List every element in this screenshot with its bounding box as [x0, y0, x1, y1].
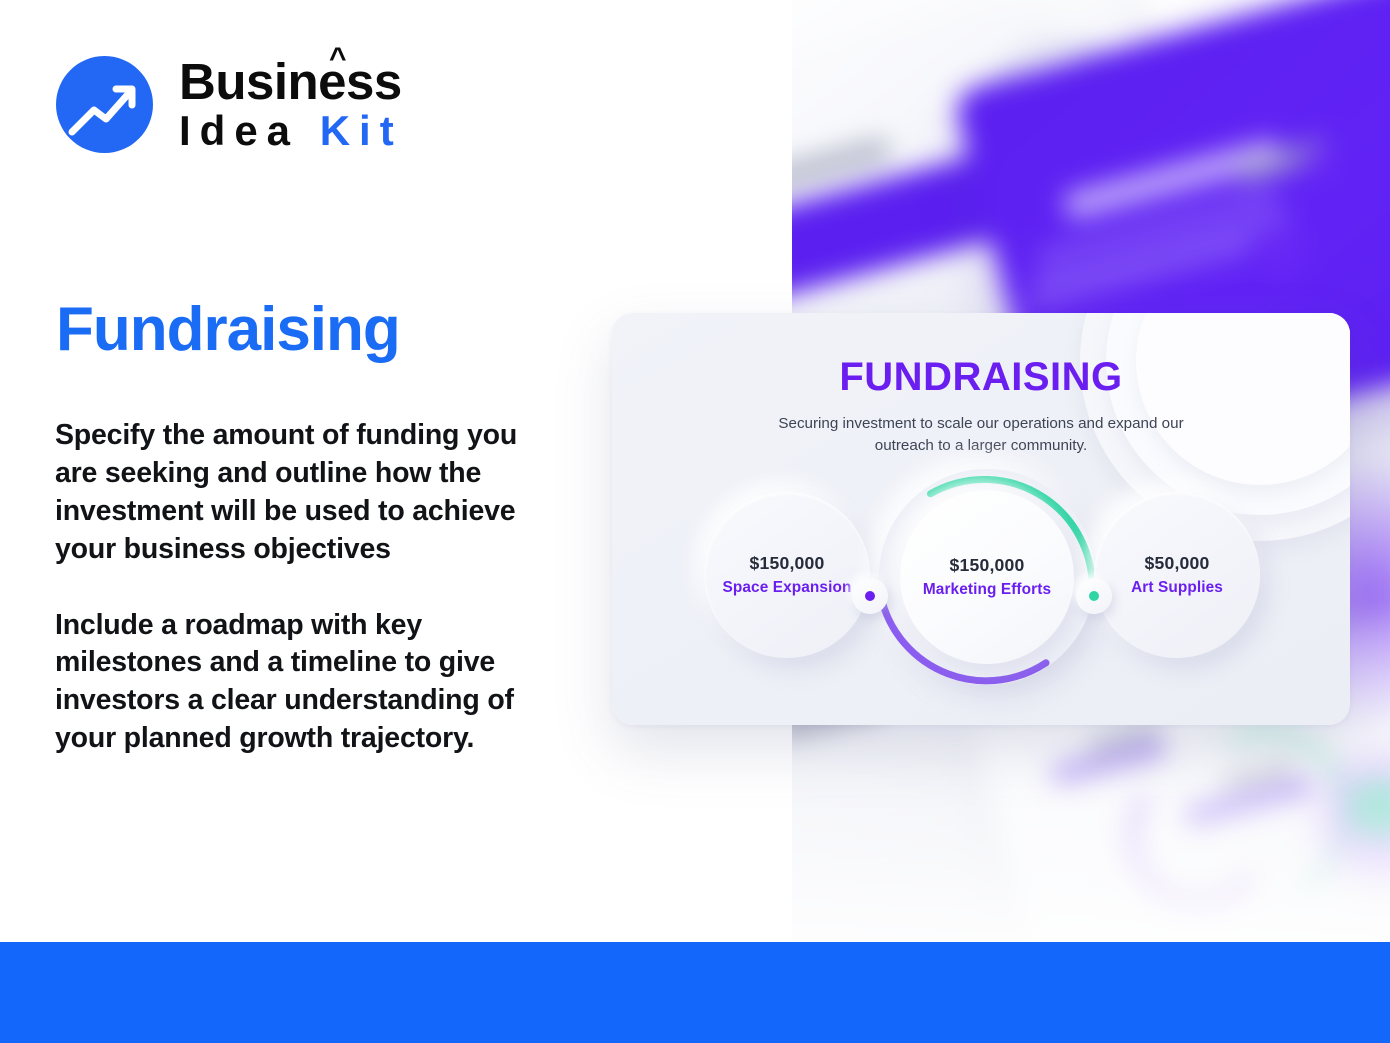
- footer-bar: [0, 942, 1390, 1043]
- funding-circle-center[interactable]: $150,000 Marketing Efforts: [900, 490, 1074, 664]
- body-copy: Specify the amount of funding you are se…: [55, 417, 565, 758]
- connector-left: [852, 578, 888, 614]
- growth-arrow-icon: [56, 56, 153, 153]
- brand-line-1-text: Business: [179, 53, 402, 110]
- funding-amount: $150,000: [750, 553, 825, 574]
- connector-right: [1076, 578, 1112, 614]
- funding-amount: $150,000: [950, 555, 1025, 576]
- brand-line-1: Business ^: [179, 57, 403, 107]
- photo-purple-dot: [1304, 148, 1334, 178]
- green-dot-icon: [1089, 591, 1099, 601]
- funding-amount: $50,000: [1145, 553, 1210, 574]
- card-title: FUNDRAISING: [612, 355, 1350, 400]
- funding-circle-right[interactable]: $50,000 Art Supplies: [1094, 492, 1260, 658]
- funding-label: Art Supplies: [1131, 579, 1223, 597]
- brand-wordmark: Business ^ Idea Kit: [179, 57, 403, 153]
- funding-circle-left[interactable]: $150,000 Space Expansion: [704, 492, 870, 658]
- page-title: Fundraising: [56, 297, 400, 362]
- funding-label: Space Expansion: [723, 579, 852, 597]
- brand-line-2-kit: Kit: [320, 107, 403, 154]
- circumflex-icon: ^: [329, 44, 346, 74]
- body-paragraph-2: Include a roadmap with key milestones an…: [55, 607, 565, 759]
- fundraising-slide-card: FUNDRAISING Securing investment to scale…: [612, 313, 1350, 725]
- photo-purple-dot: [1288, 236, 1308, 256]
- slide-root: Business ^ Idea Kit Fundraising Specify …: [0, 0, 1390, 1043]
- brand-line-2-idea: Idea: [179, 107, 299, 154]
- funding-label: Marketing Efforts: [923, 581, 1051, 599]
- funding-circles-group: $150,000 Space Expansion $150,000 Market…: [612, 470, 1350, 725]
- purple-dot-icon: [865, 591, 875, 601]
- card-subtitle: Securing investment to scale our operati…: [771, 413, 1191, 456]
- body-paragraph-1: Specify the amount of funding you are se…: [55, 417, 565, 569]
- brand-line-2: Idea Kit: [179, 110, 403, 152]
- brand-logo[interactable]: Business ^ Idea Kit: [56, 56, 403, 153]
- funding-circle-center-wrapper: $150,000 Marketing Efforts: [877, 458, 1097, 703]
